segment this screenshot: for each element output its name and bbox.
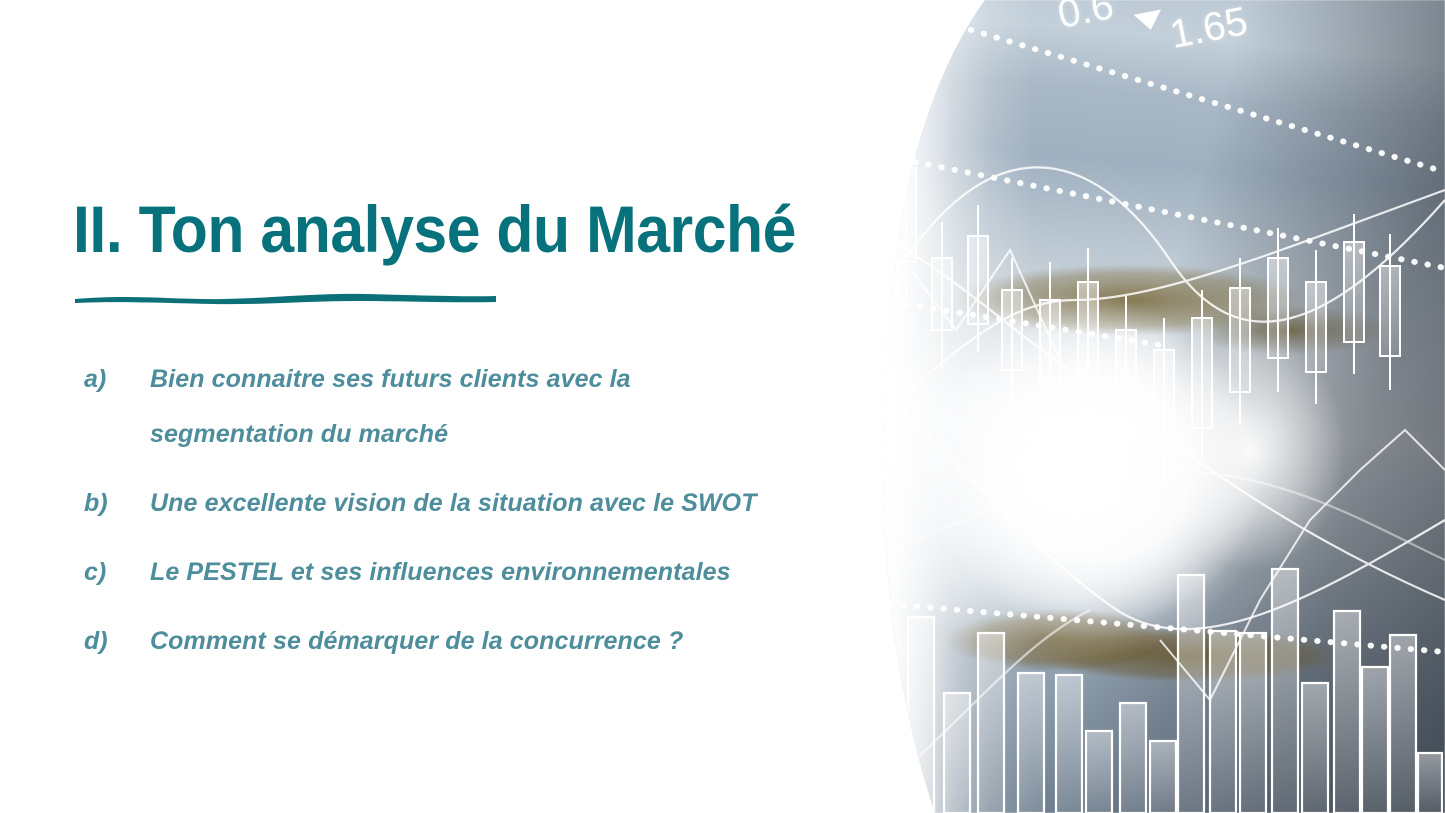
list-item: d) Comment se démarquer de la concurrenc… — [84, 614, 884, 669]
list-item: a) Bien connaitre ses futurs clients ave… — [84, 352, 884, 462]
photo-lens-clip: 0.6 1.65 — [860, 0, 1445, 813]
title-block: II. Ton analyse du Marché — [73, 196, 873, 262]
list-item-text: Le PESTEL et ses influences environnemen… — [150, 545, 770, 600]
list-item-marker: b) — [84, 476, 150, 531]
list-item: b) Une excellente vision de la situation… — [84, 476, 884, 531]
page-title: II. Ton analyse du Marché — [73, 196, 809, 262]
list-item: c) Le PESTEL et ses influences environne… — [84, 545, 884, 600]
list-item-marker: d) — [84, 614, 150, 669]
presentation-slide: 0.6 1.65 II. Ton analyse du Marché a) Bi… — [0, 0, 1445, 813]
market-analysis-photo: 0.6 1.65 — [860, 0, 1445, 813]
list-item-text: Bien connaitre ses futurs clients avec l… — [150, 352, 770, 462]
list-item-text: Comment se démarquer de la concurrence ? — [150, 614, 770, 669]
list-item-marker: a) — [84, 352, 150, 407]
title-underline-stroke — [73, 288, 498, 306]
bullet-list: a) Bien connaitre ses futurs clients ave… — [84, 352, 884, 683]
photo-left-fade — [860, 0, 1445, 813]
list-item-text: Une excellente vision de la situation av… — [150, 476, 770, 531]
list-item-marker: c) — [84, 545, 150, 600]
